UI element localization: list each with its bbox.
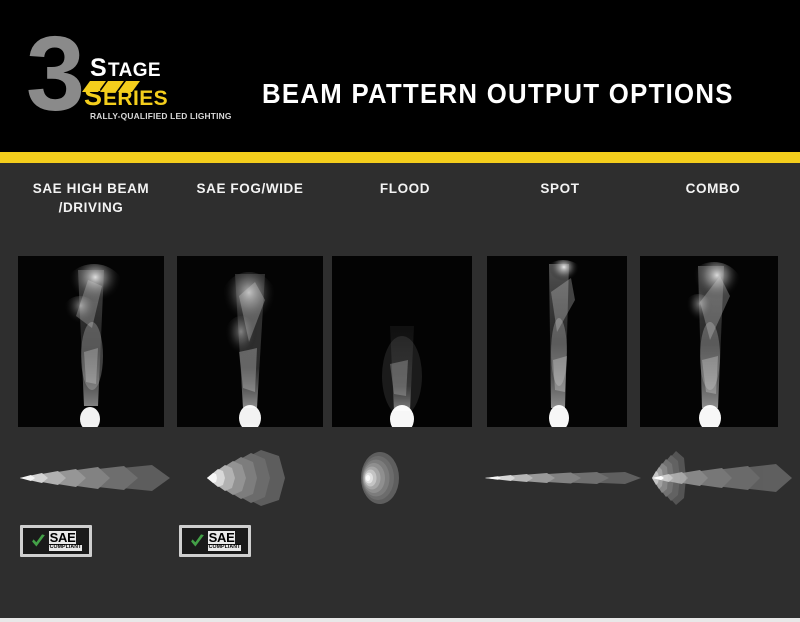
beam-pattern-flood <box>322 443 492 513</box>
beam-option-label: COMBO <box>626 179 800 198</box>
beam-pattern-spot <box>477 443 647 513</box>
header-bar: 3 S TAGE S ERIES RALLY-QUALIFIED LED LIG… <box>0 0 800 152</box>
beam-pattern-sae-fog-wide <box>167 443 337 513</box>
svg-text:3: 3 <box>28 26 82 126</box>
svg-text:S: S <box>90 54 107 82</box>
badge-subtitle: COMPLIANT <box>208 545 242 550</box>
check-icon <box>30 533 47 550</box>
night-beam-photo-spot <box>487 256 627 427</box>
beam-option-column-spot[interactable]: SPOT <box>487 163 633 618</box>
svg-text:TAGE: TAGE <box>108 60 161 81</box>
beam-pattern-combo <box>630 443 800 513</box>
night-beam-photo-sae-fog-wide <box>177 256 323 427</box>
svg-text:S: S <box>84 81 102 111</box>
badge-title: SAE <box>208 531 236 544</box>
night-beam-photo-combo <box>640 256 778 427</box>
sae-compliant-badge: SAE COMPLIANT <box>179 525 251 557</box>
bottom-border <box>0 618 800 622</box>
beam-option-column-sae-high-beam[interactable]: SAE HIGH BEAM /DRIVING <box>18 163 164 618</box>
svg-text:ERIES: ERIES <box>103 87 168 110</box>
beam-option-label: SAE HIGH BEAM /DRIVING <box>4 179 178 217</box>
beam-option-label: SPOT <box>473 179 647 198</box>
night-beam-photo-sae-high-beam <box>18 256 164 427</box>
beam-pattern-infographic: 3 S TAGE S ERIES RALLY-QUALIFIED LED LIG… <box>0 0 800 622</box>
night-beam-photo-flood <box>332 256 472 427</box>
beam-option-label: SAE FOG/WIDE <box>163 179 337 198</box>
beam-option-column-flood[interactable]: FLOOD <box>332 163 478 618</box>
beam-pattern-sae-high-beam <box>8 443 178 513</box>
beam-option-column-sae-fog-wide[interactable]: SAE FOG/WIDE <box>177 163 323 618</box>
check-icon <box>189 533 206 550</box>
sae-compliant-badge: SAE COMPLIANT <box>20 525 92 557</box>
page-title: BEAM PATTERN OUTPUT OPTIONS <box>262 78 748 110</box>
badge-title: SAE <box>49 531 77 544</box>
brand-logo-mark: 3 S TAGE S ERIES RALLY-QUALIFIED LED LIG… <box>28 26 238 126</box>
brand-logo: 3 S TAGE S ERIES RALLY-QUALIFIED LED LIG… <box>28 26 238 126</box>
brand-tagline: RALLY-QUALIFIED LED LIGHTING <box>90 111 232 121</box>
beam-option-label: FLOOD <box>318 179 492 198</box>
beam-options-grid: SAE HIGH BEAM /DRIVING <box>0 163 800 618</box>
beam-option-column-combo[interactable]: COMBO <box>640 163 786 618</box>
accent-divider <box>0 152 800 163</box>
badge-subtitle: COMPLIANT <box>49 545 83 550</box>
